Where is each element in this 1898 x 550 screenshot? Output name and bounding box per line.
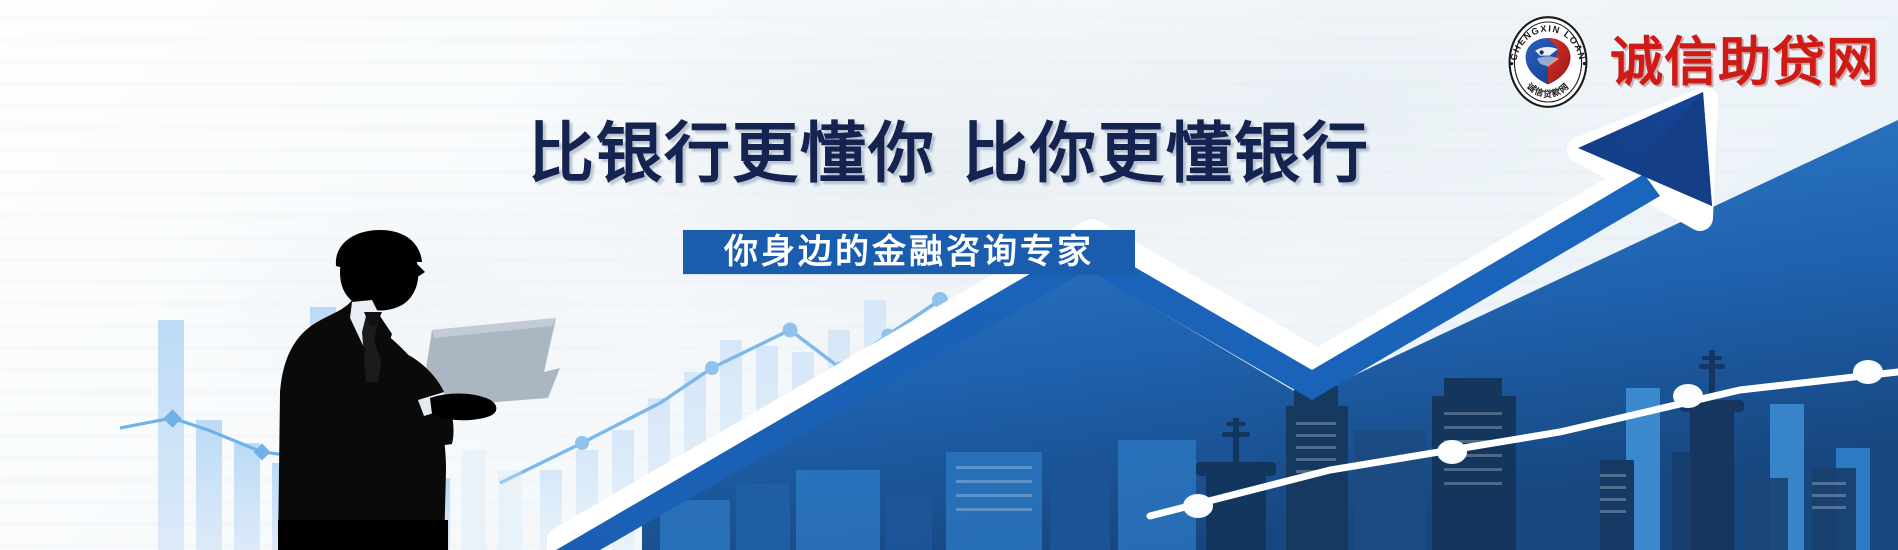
brand-name: 诚信助贷网: [1610, 36, 1880, 89]
foreground-bar-wash: [462, 450, 522, 550]
promotional-banner: 比银行更懂你比你更懂银行 你身边的金融咨询专家 CHENGXIN LO: [0, 0, 1898, 550]
subtitle-text: 你身边的金融咨询专家: [724, 235, 1094, 269]
circular-seal-eagle-emblem: CHENGXIN LOAN 诚信贷款网: [1500, 14, 1596, 110]
subtitle-ribbon: 你身边的金融咨询专家: [683, 230, 1135, 274]
brand-logo-block[interactable]: CHENGXIN LOAN 诚信贷款网 诚信助贷网: [1500, 14, 1880, 110]
